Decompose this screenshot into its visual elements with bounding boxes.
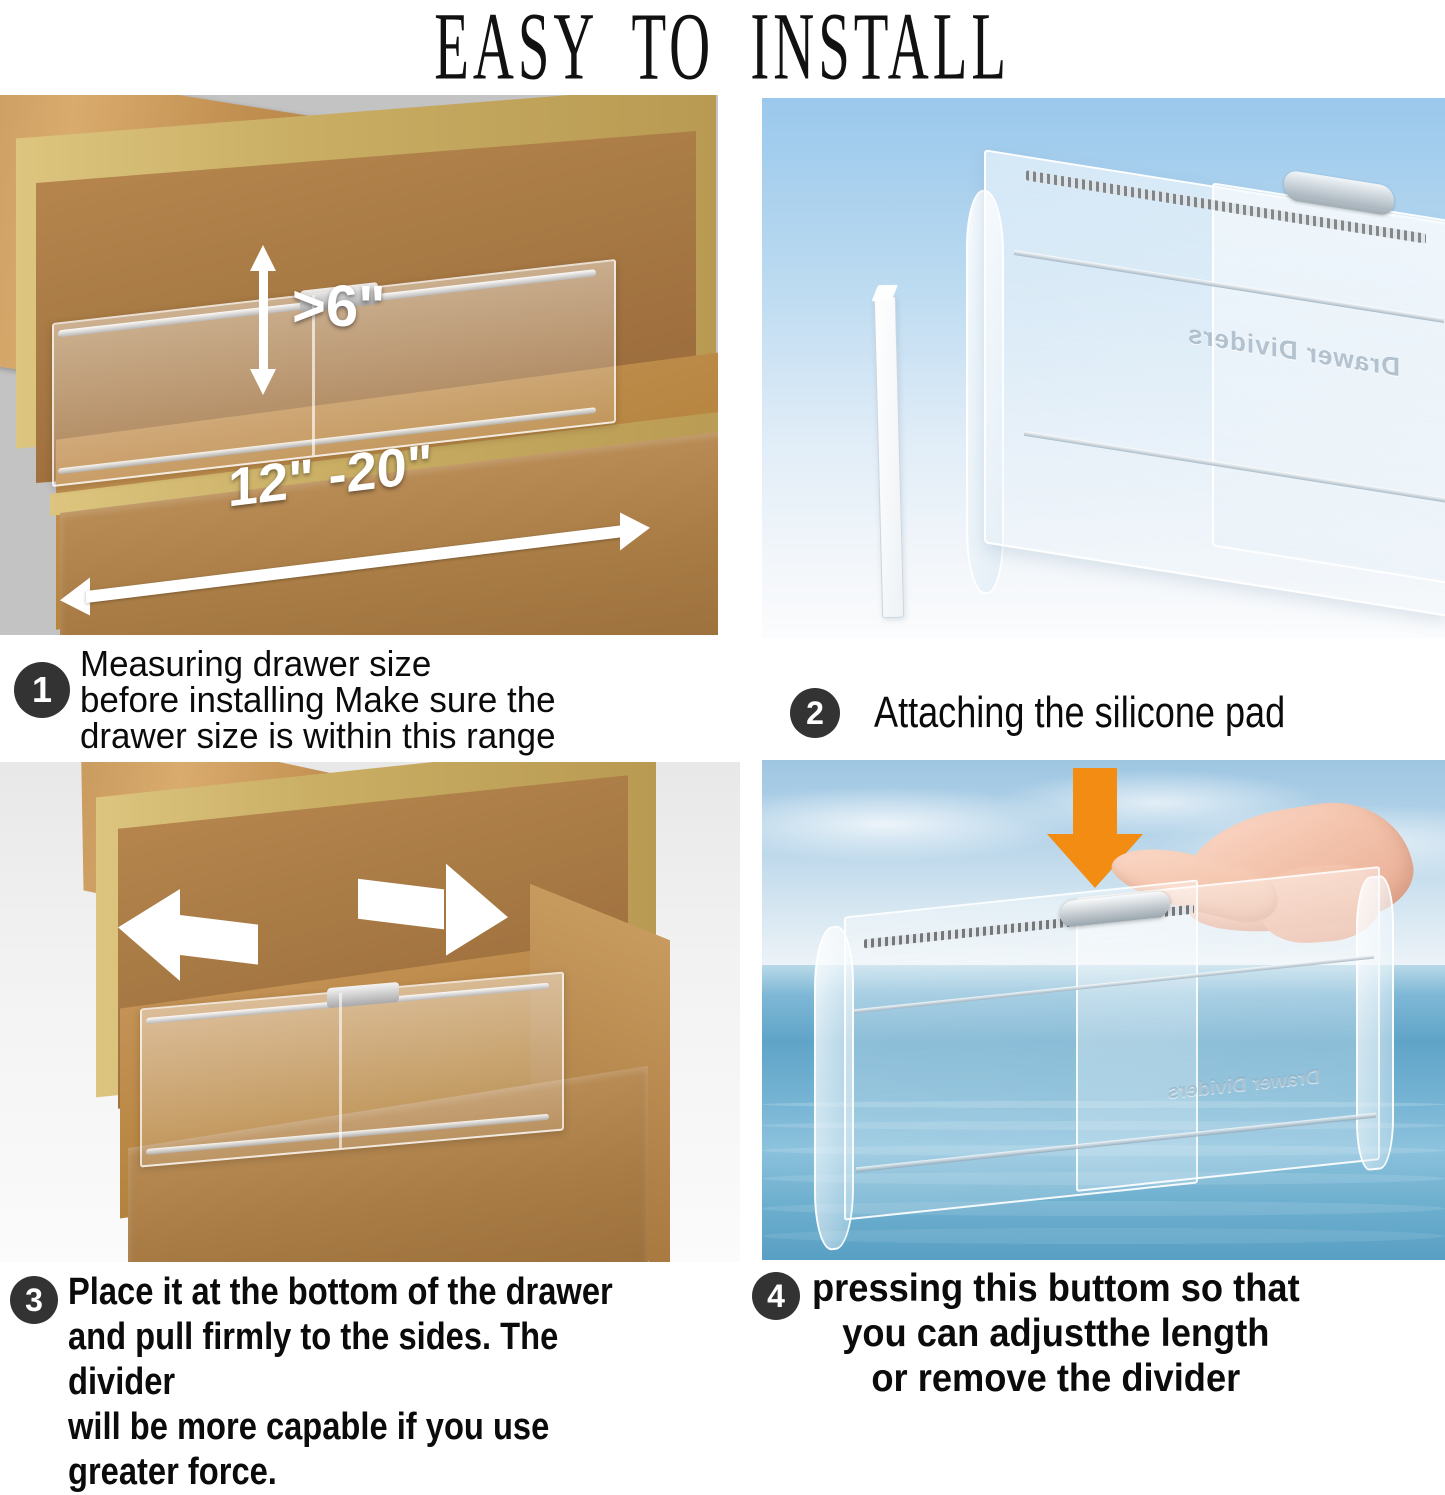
arrow-shaft [358, 879, 444, 930]
step-4-caption: 4 pressing this buttom so that you can a… [740, 1262, 1445, 1409]
step-2-caption: 2 Attaching the silicone pad [762, 640, 1445, 758]
height-arrow-icon [250, 245, 276, 395]
page-title: EASY TO INSTALL [435, 0, 1011, 94]
step-3-caption: 3 Place it at the bottom of the drawer a… [0, 1264, 740, 1409]
divider-seam [339, 993, 342, 1148]
divider-end-cap-right [1356, 874, 1394, 1172]
step-3-image [0, 762, 740, 1262]
step-badge-2: 2 [790, 688, 840, 738]
pull-right-arrow-icon [358, 853, 508, 963]
step-1-caption: 1 Measuring drawer size before installin… [0, 638, 740, 760]
arrow-head-right [446, 864, 508, 964]
step-badge-1: 1 [14, 662, 70, 718]
step-4-image: Drawer Dividers [762, 760, 1445, 1260]
step-4-text: pressing this buttom so that you can adj… [812, 1266, 1300, 1401]
step-badge-3: 3 [10, 1276, 58, 1324]
step-badge-4: 4 [752, 1272, 800, 1320]
arrow-head-left [118, 881, 180, 981]
step-1-text: Measuring drawer size before installing … [80, 646, 556, 754]
step-2-text: Attaching the silicone pad [874, 689, 1285, 737]
divider-extension [1212, 182, 1445, 597]
step-1-image: >6" 12" -20" [0, 95, 718, 635]
clear-divider [984, 168, 1445, 598]
pull-left-arrow-icon [118, 881, 258, 990]
page-title-bar: EASY TO INSTALL [0, 0, 1445, 92]
height-measure-label: >6" [292, 273, 386, 340]
step-2-image: Drawer Dividers [762, 98, 1445, 638]
arrow-shaft [259, 267, 268, 373]
arrow-head-right [620, 509, 650, 551]
arrow-head-down [250, 369, 276, 395]
clear-divider: Drawer Dividers [820, 878, 1380, 1238]
arrow-shaft [174, 914, 258, 964]
silicone-pad [874, 296, 904, 618]
step-3-text: Place it at the bottom of the drawer and… [68, 1270, 646, 1495]
